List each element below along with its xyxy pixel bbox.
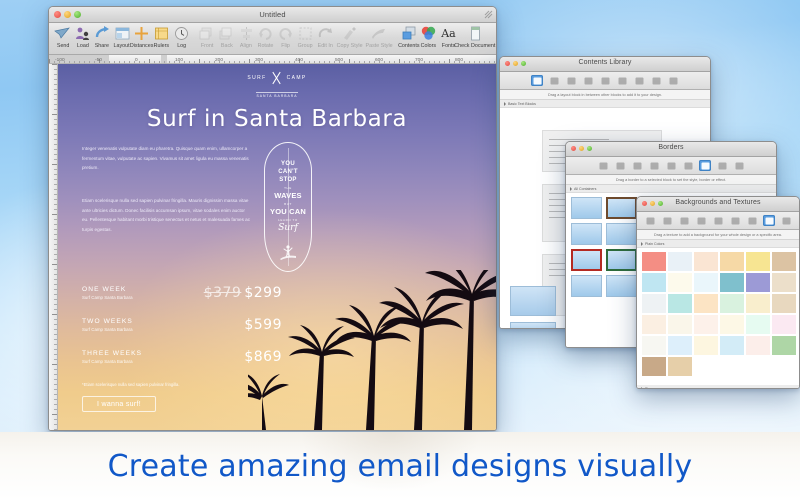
text-box-icon[interactable] — [661, 215, 673, 226]
toolbar-button-label: Back — [220, 42, 232, 49]
ruler-label: 300 — [255, 56, 263, 62]
color-swatch[interactable] — [720, 273, 744, 292]
toolbar-button-label: Flip — [281, 42, 290, 49]
design-canvas[interactable]: SURF CAMP SANTA BARBARA Surf in Santa Ba… — [58, 64, 496, 430]
shape-icon[interactable] — [678, 215, 690, 226]
color-swatch[interactable] — [668, 336, 692, 355]
toolbar-button-copy-style: Copy Style — [335, 25, 364, 48]
textures-group-label: Blurs — [645, 387, 653, 389]
board-line-6: YOU CAN — [264, 208, 312, 216]
rotate-icon — [257, 25, 274, 42]
picture-icon[interactable] — [667, 75, 679, 86]
backgrounds-window-title: Backgrounds and Textures — [637, 199, 799, 206]
send-icon — [54, 25, 71, 42]
toolbar-button-back: Back — [217, 25, 237, 48]
border-style-swatch[interactable] — [606, 275, 637, 297]
rect-icon[interactable] — [699, 160, 711, 171]
pen-icon[interactable] — [648, 160, 660, 171]
log-icon — [173, 25, 190, 42]
color-swatch[interactable] — [668, 294, 692, 313]
logo-word-left: SURF — [247, 75, 266, 81]
toolbar-button-label: Share — [95, 42, 109, 49]
horizontal-ruler[interactable]: -100-500100200300400500600700800 — [49, 55, 496, 64]
columns-icon[interactable] — [763, 215, 775, 226]
borders-group-header[interactable]: All Containers — [566, 185, 776, 193]
surfboard-graphic[interactable]: YOU CAN'T STOP THE WAVES BUT YOU CAN LEA… — [264, 142, 312, 272]
contents-panel-toolbar[interactable] — [500, 72, 710, 90]
contents-icon — [401, 25, 418, 42]
logo-subtitle: SANTA BARBARA — [256, 92, 297, 99]
color-swatch[interactable] — [642, 336, 666, 355]
color-swatch[interactable] — [694, 252, 718, 271]
borders-group-label: All Containers — [574, 187, 596, 191]
color-swatch[interactable] — [772, 357, 796, 376]
share-icon — [94, 25, 111, 42]
surfer-icon — [276, 242, 300, 262]
toolbar-button-check-document[interactable]: Check Document — [458, 25, 492, 48]
backgrounds-panel-toolbar[interactable] — [637, 212, 799, 230]
ruler-label: 400 — [295, 56, 303, 62]
distances-icon — [133, 25, 150, 42]
layout-icon — [114, 25, 131, 42]
contents-window-title: Contents Library — [500, 59, 710, 66]
edit-in-icon — [317, 25, 334, 42]
ruler-label: -100 — [55, 56, 65, 62]
border-style-swatch[interactable] — [606, 249, 637, 271]
caption-text: Create amazing email designs visually — [0, 432, 800, 500]
color-swatch[interactable] — [694, 336, 718, 355]
toolbar-button-label: Load — [77, 42, 89, 49]
board-line-5-small: BUT — [264, 200, 312, 208]
copy-style-icon — [341, 25, 358, 42]
resize-grip-icon[interactable] — [484, 10, 493, 19]
fonts-icon: Aa — [440, 25, 457, 42]
color-swatch[interactable] — [668, 252, 692, 271]
color-swatch[interactable] — [668, 273, 692, 292]
ruler-label: 100 — [175, 56, 183, 62]
group-icon — [297, 25, 314, 42]
toolbar-button-label: Distances — [130, 42, 154, 49]
color-swatch[interactable] — [642, 294, 666, 313]
color-swatch[interactable] — [668, 315, 692, 334]
crossed-boards-icon — [270, 72, 284, 84]
toolbar-button-group: Group — [295, 25, 315, 48]
border-style-swatch[interactable] — [571, 197, 602, 219]
color-swatch[interactable] — [746, 336, 770, 355]
toolbar-button-align: Align — [236, 25, 256, 48]
ruler-label: 800 — [455, 56, 463, 62]
toolbar-button-label: Log — [177, 42, 186, 49]
color-swatch-grid[interactable] — [642, 252, 796, 376]
toolbar-button-edit-in: Edit In — [315, 25, 335, 48]
color-swatch[interactable] — [720, 294, 744, 313]
toolbar-button-label: Rulers — [154, 42, 169, 49]
color-swatch[interactable] — [694, 357, 718, 376]
toolbar-button-paste-style: Paste Style — [364, 25, 393, 48]
toolbar-button-load[interactable]: Load — [73, 25, 93, 48]
vertical-ruler[interactable] — [49, 64, 58, 430]
toolbar-button-label: Group — [298, 42, 313, 49]
textures-group-header[interactable]: Blurs — [637, 385, 799, 388]
list-item[interactable] — [510, 322, 556, 328]
main-toolbar[interactable]: SendLoadShareLayoutDistancesRulersLogFro… — [49, 23, 496, 55]
main-editor-window[interactable]: Untitled SendLoadShareLayoutDistancesRul… — [48, 6, 497, 431]
board-line-7-small: LEARN TO — [264, 216, 312, 224]
frame-icon[interactable] — [599, 75, 611, 86]
toolbar-button-share[interactable]: Share — [92, 25, 112, 48]
toolbar-button-colors[interactable]: Colors — [419, 25, 439, 48]
pen-icon[interactable] — [582, 75, 594, 86]
color-swatch[interactable] — [772, 315, 796, 334]
chevron-right-icon[interactable] — [570, 187, 572, 191]
cta-button[interactable]: I wanna surf! — [82, 396, 156, 412]
color-swatch[interactable] — [720, 357, 744, 376]
type-icon[interactable] — [729, 215, 741, 226]
color-swatch[interactable] — [746, 252, 770, 271]
contents-group-label: Basic Text Blocks — [508, 102, 536, 106]
borders-window-titlebar[interactable]: Borders — [566, 142, 776, 157]
ruler-label: -50 — [95, 56, 102, 62]
toolbar-button-rulers[interactable]: Rulers — [152, 25, 172, 48]
image-icon[interactable] — [597, 160, 609, 171]
toolbar-button-label: Copy Style — [337, 42, 363, 49]
shape-icon[interactable] — [565, 75, 577, 86]
design-footnote: *Etiam scelerisque nulla sed sapien pulv… — [82, 382, 180, 387]
toolbar-button-label: Colors — [421, 42, 436, 49]
backgrounds-group-label: Plain Colors — [645, 242, 664, 246]
board-line-8: Surf — [264, 224, 312, 232]
board-line-1: YOU — [264, 160, 312, 168]
chevron-right-icon[interactable] — [641, 387, 643, 389]
frame-icon[interactable] — [665, 160, 677, 171]
ruler-label: 600 — [375, 56, 383, 62]
text-box-icon[interactable] — [614, 160, 626, 171]
toolbar-button-rotate: Rotate — [256, 25, 276, 48]
contents-window-titlebar[interactable]: Contents Library — [500, 57, 710, 72]
color-swatch[interactable] — [642, 252, 666, 271]
ruler-label: 500 — [335, 56, 343, 62]
borders-panel-toolbar[interactable] — [566, 157, 776, 175]
color-swatch[interactable] — [694, 315, 718, 334]
rect-icon[interactable] — [633, 75, 645, 86]
color-swatch[interactable] — [746, 357, 770, 376]
pen-icon[interactable] — [695, 215, 707, 226]
toolbar-button-label: Paste Style — [365, 42, 392, 49]
picture-icon[interactable] — [780, 215, 792, 226]
color-swatch[interactable] — [694, 273, 718, 292]
borders-window-title: Borders — [566, 144, 776, 151]
color-swatch[interactable] — [772, 294, 796, 313]
main-window-titlebar[interactable]: Untitled — [49, 7, 496, 23]
frame-icon[interactable] — [712, 215, 724, 226]
borders-panel-hint: Drag a border to a selected block to set… — [566, 175, 776, 185]
border-style-swatch[interactable] — [606, 197, 637, 219]
toolbar-button-distances[interactable]: Distances — [132, 25, 152, 48]
color-swatch[interactable] — [772, 252, 796, 271]
columns-icon[interactable] — [650, 75, 662, 86]
send-back-icon — [218, 25, 235, 42]
color-swatch[interactable] — [746, 294, 770, 313]
color-swatch[interactable] — [772, 336, 796, 355]
backgrounds-panel-hint: Drag a texture to add a background for y… — [637, 230, 799, 240]
colors-icon — [420, 25, 437, 42]
toolbar-button-label: Layout — [114, 42, 130, 49]
columns-icon[interactable] — [716, 160, 728, 171]
border-style-swatch[interactable] — [571, 223, 602, 245]
ruler-ticks — [49, 59, 496, 63]
backgrounds-group-header[interactable]: Plain Colors — [637, 240, 799, 248]
chevron-right-icon[interactable] — [504, 102, 506, 106]
contents-panel-hint: Drag a layout block in between other blo… — [500, 90, 710, 100]
design-paragraph-2[interactable]: Etiam scelerisque nulla sed sapien pulvi… — [82, 196, 252, 234]
color-swatch[interactable] — [746, 315, 770, 334]
check-document-icon — [467, 25, 484, 42]
color-swatch[interactable] — [746, 273, 770, 292]
type-icon[interactable] — [682, 160, 694, 171]
ruler-label: 700 — [415, 56, 423, 62]
color-swatch[interactable] — [772, 273, 796, 292]
color-swatch[interactable] — [642, 357, 666, 376]
color-swatch[interactable] — [642, 273, 666, 292]
align-icon — [238, 25, 255, 42]
toolbar-button-flip: Flip — [276, 25, 296, 48]
backgrounds-panel-body[interactable]: Plain Colors Blurs — [637, 240, 799, 388]
backgrounds-window-titlebar[interactable]: Backgrounds and Textures — [637, 197, 799, 212]
toolbar-button-contents[interactable]: Contents — [399, 25, 419, 48]
list-item[interactable] — [510, 286, 556, 316]
color-swatch[interactable] — [642, 315, 666, 334]
image-icon[interactable] — [531, 75, 543, 86]
border-style-swatch[interactable] — [571, 249, 602, 271]
type-icon[interactable] — [616, 75, 628, 86]
toolbar-button-label: Fonts — [442, 42, 455, 49]
board-line-3: STOP — [264, 176, 312, 184]
load-icon — [74, 25, 91, 42]
ruler-label: 0 — [135, 56, 138, 62]
toolbar-button-send[interactable]: Send — [53, 25, 73, 48]
bring-front-icon — [198, 25, 215, 42]
picture-icon[interactable] — [733, 160, 745, 171]
border-style-swatch[interactable] — [606, 223, 637, 245]
paste-style-icon — [370, 25, 387, 42]
toolbar-button-label: Front — [200, 42, 213, 49]
ruler-label: 200 — [215, 56, 223, 62]
flip-icon — [277, 25, 294, 42]
palm-trees-photo — [248, 270, 496, 430]
board-line-2: CAN'T — [264, 168, 312, 176]
chevron-right-icon[interactable] — [641, 242, 643, 246]
toolbar-button-label: Check Document — [455, 42, 496, 49]
design-paragraph-1[interactable]: Integer venenatis vulputate diam eu phar… — [82, 144, 252, 173]
toolbar-button-label: Send — [57, 42, 70, 49]
brand-logo[interactable]: SURF CAMP SANTA BARBARA — [244, 72, 310, 102]
board-line-4-small: THE — [264, 184, 312, 192]
toolbar-button-front: Front — [197, 25, 217, 48]
color-swatch[interactable] — [720, 252, 744, 271]
border-style-swatch[interactable] — [571, 275, 602, 297]
backgrounds-window[interactable]: Backgrounds and Textures Drag a texture … — [636, 196, 800, 389]
toolbar-button-label: Contents — [398, 42, 419, 49]
window-title: Untitled — [49, 10, 496, 19]
toolbar-button-label: Edit In — [317, 42, 332, 49]
rect-icon[interactable] — [746, 215, 758, 226]
color-swatch[interactable] — [694, 294, 718, 313]
rulers-icon — [153, 25, 170, 42]
shape-icon[interactable] — [631, 160, 643, 171]
toolbar-button-label: Rotate — [258, 42, 274, 49]
color-swatch[interactable] — [720, 315, 744, 334]
toolbar-button-label: Align — [240, 42, 252, 49]
text-box-icon[interactable] — [548, 75, 560, 86]
toolbar-button-log[interactable]: Log — [171, 25, 191, 48]
design-headline[interactable]: Surf in Santa Barbara — [58, 106, 496, 132]
svg-text:Aa: Aa — [440, 27, 456, 40]
logo-word-right: CAMP — [287, 75, 307, 81]
price-old: $379 — [204, 285, 242, 301]
board-line-4: WAVES — [264, 192, 312, 200]
image-icon[interactable] — [644, 215, 656, 226]
contents-group-header[interactable]: Basic Text Blocks — [500, 100, 710, 108]
color-swatch[interactable] — [668, 357, 692, 376]
color-swatch[interactable] — [720, 336, 744, 355]
